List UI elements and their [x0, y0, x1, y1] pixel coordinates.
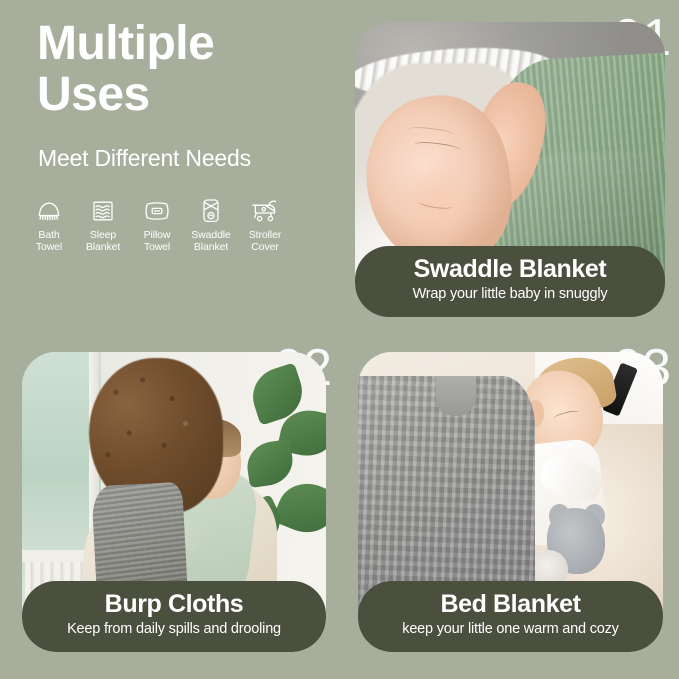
feature-label: Swaddle Blanket: [191, 229, 231, 254]
feature-label: Bath Towel: [36, 229, 62, 254]
feature-stroller-cover: Stroller Cover: [238, 196, 292, 254]
swaddle-blanket-icon: [194, 196, 228, 226]
card-body[interactable]: Burp Cloths Keep from daily spills and d…: [22, 352, 326, 652]
pillow-towel-icon: [140, 196, 174, 226]
bath-towel-icon: [32, 196, 66, 226]
intro-panel: Multiple Uses Meet Different Needs Bath …: [0, 0, 340, 339]
page-title: Multiple Uses: [37, 18, 317, 121]
card-body[interactable]: Bed Blanket keep your little one warm an…: [358, 352, 663, 652]
card-caption: Burp Cloths Keep from daily spills and d…: [22, 581, 326, 652]
sleep-blanket-icon: [86, 196, 120, 226]
stroller-cover-icon: [248, 196, 282, 226]
card-body[interactable]: Swaddle Blanket Wrap your little baby in…: [355, 22, 665, 317]
feature-card-bed-blanket[interactable]: 03 Bed Blanket keep your little: [340, 339, 679, 679]
feature-pillow-towel: Pillow Towel: [130, 196, 184, 254]
card-title: Bed Blanket: [372, 590, 649, 620]
feature-label: Stroller Cover: [249, 229, 281, 254]
feature-card-swaddle-blanket[interactable]: 01 Swaddle Blanket Wrap your little baby…: [340, 0, 679, 339]
card-caption: Bed Blanket keep your little one warm an…: [358, 581, 663, 652]
photo-layer-leaf: [244, 439, 296, 488]
feature-card-burp-cloths[interactable]: 02: [0, 339, 340, 679]
feature-label: Sleep Blanket: [86, 229, 120, 254]
product-feature-collage: Multiple Uses Meet Different Needs Bath …: [0, 0, 679, 679]
feature-label: Pillow Towel: [144, 229, 171, 254]
card-subtitle: Keep from daily spills and drooling: [36, 620, 312, 639]
card-caption: Swaddle Blanket Wrap your little baby in…: [355, 246, 665, 317]
card-title: Swaddle Blanket: [369, 255, 651, 285]
photo-layer-leaf: [271, 474, 326, 541]
feature-bath-towel: Bath Towel: [22, 196, 76, 254]
feature-swaddle-blanket: Swaddle Blanket: [184, 196, 238, 254]
feature-icon-row: Bath Towel Sleep Blanket: [22, 196, 318, 254]
card-subtitle: keep your little one warm and cozy: [372, 620, 649, 639]
feature-sleep-blanket: Sleep Blanket: [76, 196, 130, 254]
card-subtitle: Wrap your little baby in snuggly: [369, 285, 651, 304]
page-subtitle: Meet Different Needs: [38, 145, 251, 172]
headline-line-1: Multiple: [37, 18, 317, 69]
headline-line-2: Uses: [37, 69, 317, 120]
card-title: Burp Cloths: [36, 590, 312, 620]
